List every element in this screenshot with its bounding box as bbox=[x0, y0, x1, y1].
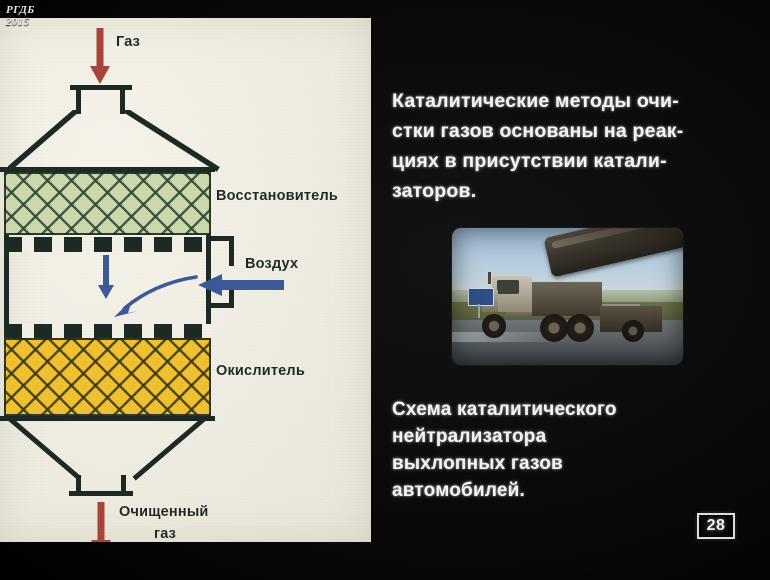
main-paragraph-line-2: стки газов основаны на реак- bbox=[392, 116, 764, 146]
label-outlet-gas-line1: Очищенный bbox=[119, 504, 209, 520]
outlet-gas-arrow-icon bbox=[89, 502, 113, 542]
caption-line-3: выхлопных газов bbox=[392, 450, 764, 477]
label-oxidizer-bed: Окислитель bbox=[216, 363, 305, 379]
inlet-gas-arrow-icon bbox=[88, 28, 112, 84]
air-nozzle-upper-stub-vertical bbox=[229, 236, 234, 266]
diagram-panel: Газ Восстановитель bbox=[0, 18, 371, 542]
filmstrip-frame: РГДБ 2015 Газ Восстановитель bbox=[0, 0, 770, 580]
vessel-bottom-cone bbox=[8, 419, 208, 481]
oxidizer-catalyst-bed bbox=[4, 338, 211, 416]
label-air-inlet: Воздух bbox=[245, 256, 298, 272]
main-paragraph-line-3: циях в присутствии катали- bbox=[392, 146, 764, 176]
upper-grating bbox=[4, 237, 211, 252]
main-paragraph-line-1: Каталитические методы очи- bbox=[392, 86, 764, 116]
main-paragraph: Каталитические методы очи- стки газов ос… bbox=[392, 86, 764, 206]
photo-vignette bbox=[452, 228, 683, 365]
label-outlet-gas-line2: газ bbox=[154, 526, 176, 542]
archive-watermark: РГДБ 2015 bbox=[6, 4, 35, 28]
photo-caption: Схема каталитического нейтрализатора вых… bbox=[392, 396, 764, 504]
main-paragraph-line-4: заторов. bbox=[392, 176, 764, 206]
caption-line-4: автомобилей. bbox=[392, 477, 764, 504]
lower-grating bbox=[4, 324, 211, 339]
caption-line-1: Схема каталитического bbox=[392, 396, 764, 423]
vessel-left-wall-upper bbox=[4, 235, 9, 330]
vessel-bottom-flange bbox=[69, 491, 133, 496]
air-inlet-arrow-icon bbox=[196, 272, 284, 298]
label-inlet-gas: Газ bbox=[116, 34, 140, 50]
reducer-catalyst-bed bbox=[4, 172, 211, 235]
watermark-line-2: 2015 bbox=[6, 16, 35, 28]
watermark-line-1: РГДБ bbox=[6, 4, 35, 16]
label-reducer-bed: Восстановитель bbox=[216, 188, 338, 204]
truck-photo bbox=[452, 228, 683, 365]
vessel-top-cone bbox=[8, 110, 220, 172]
caption-line-2: нейтрализатора bbox=[392, 423, 764, 450]
air-mixing-curved-arrow-icon bbox=[108, 273, 200, 321]
page-number-badge: 28 bbox=[697, 513, 735, 539]
